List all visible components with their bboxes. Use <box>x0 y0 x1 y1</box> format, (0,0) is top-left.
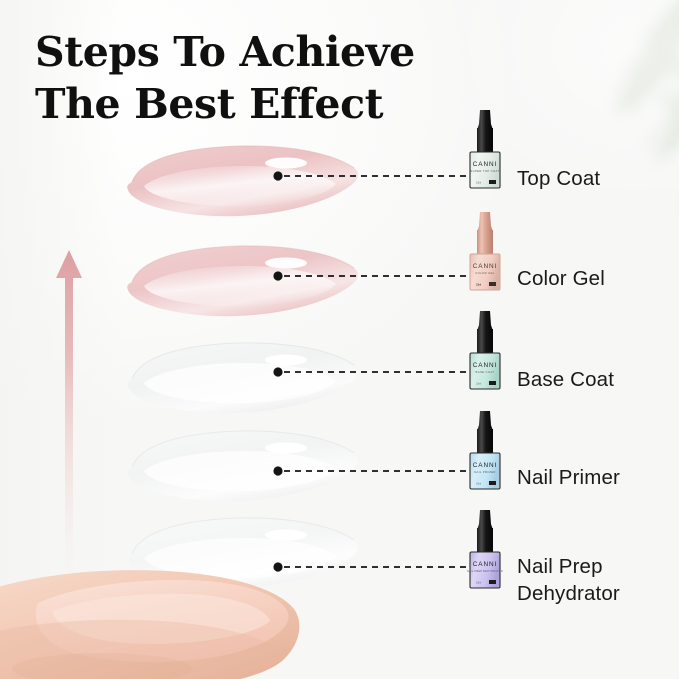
leader-line-nail-primer <box>272 465 470 477</box>
page-title: Steps To Achieve The Best Effect <box>35 26 455 131</box>
step-label-dehydrator: Nail Prep Dehydrator <box>517 553 620 607</box>
bottle-nail-prep-dehydrator: CANNI NAIL PREP DEHYDRATOR 15ml <box>464 510 506 606</box>
svg-text:COLOR GEL: COLOR GEL <box>475 271 495 275</box>
svg-text:15ml: 15ml <box>476 182 482 185</box>
nail-layer-base-coat <box>118 337 370 429</box>
svg-text:NAIL PRIMER: NAIL PRIMER <box>474 470 496 474</box>
bottle-brand-text: CANNI <box>473 362 497 369</box>
bottle-brand-text: CANNI <box>473 462 497 469</box>
step-label-nail-primer: Nail Primer <box>517 464 620 491</box>
svg-text:15ml: 15ml <box>476 582 482 585</box>
svg-text:BASE COAT: BASE COAT <box>476 370 495 374</box>
bottle-brand-text: CANNI <box>473 263 497 270</box>
nail-layer-color-gel <box>118 240 370 332</box>
step-label-top-coat: Top Coat <box>517 165 600 192</box>
svg-text:15ml: 15ml <box>476 383 482 386</box>
leader-line-dehydrator <box>272 561 470 573</box>
leader-line-color-gel <box>272 270 470 282</box>
step-label-base-coat: Base Coat <box>517 366 614 393</box>
svg-text:15ml: 15ml <box>476 483 482 486</box>
leader-line-base-coat <box>272 366 470 378</box>
bottle-nail-primer: CANNI NAIL PRIMER 15ml <box>464 411 506 507</box>
svg-text:SUPER TOP COAT: SUPER TOP COAT <box>470 169 499 173</box>
fingertip-illustration <box>0 519 322 679</box>
bottle-base-coat: CANNI BASE COAT 15ml <box>464 311 506 407</box>
bottle-brand-text: CANNI <box>473 161 497 168</box>
infographic-poster: Steps To Achieve The Best Effect <box>0 0 679 679</box>
bottle-top-coat: CANNI SUPER TOP COAT 15ml <box>464 110 506 206</box>
svg-text:15ml: 15ml <box>476 284 482 287</box>
bottle-color-gel: CANNI COLOR GEL 15ml <box>464 212 506 308</box>
nail-layer-top-coat <box>118 140 370 232</box>
bottle-brand-text: CANNI <box>473 561 497 568</box>
svg-text:NAIL PREP DEHYDRATOR: NAIL PREP DEHYDRATOR <box>467 570 503 573</box>
leader-line-top-coat <box>272 170 470 182</box>
step-label-color-gel: Color Gel <box>517 265 605 292</box>
